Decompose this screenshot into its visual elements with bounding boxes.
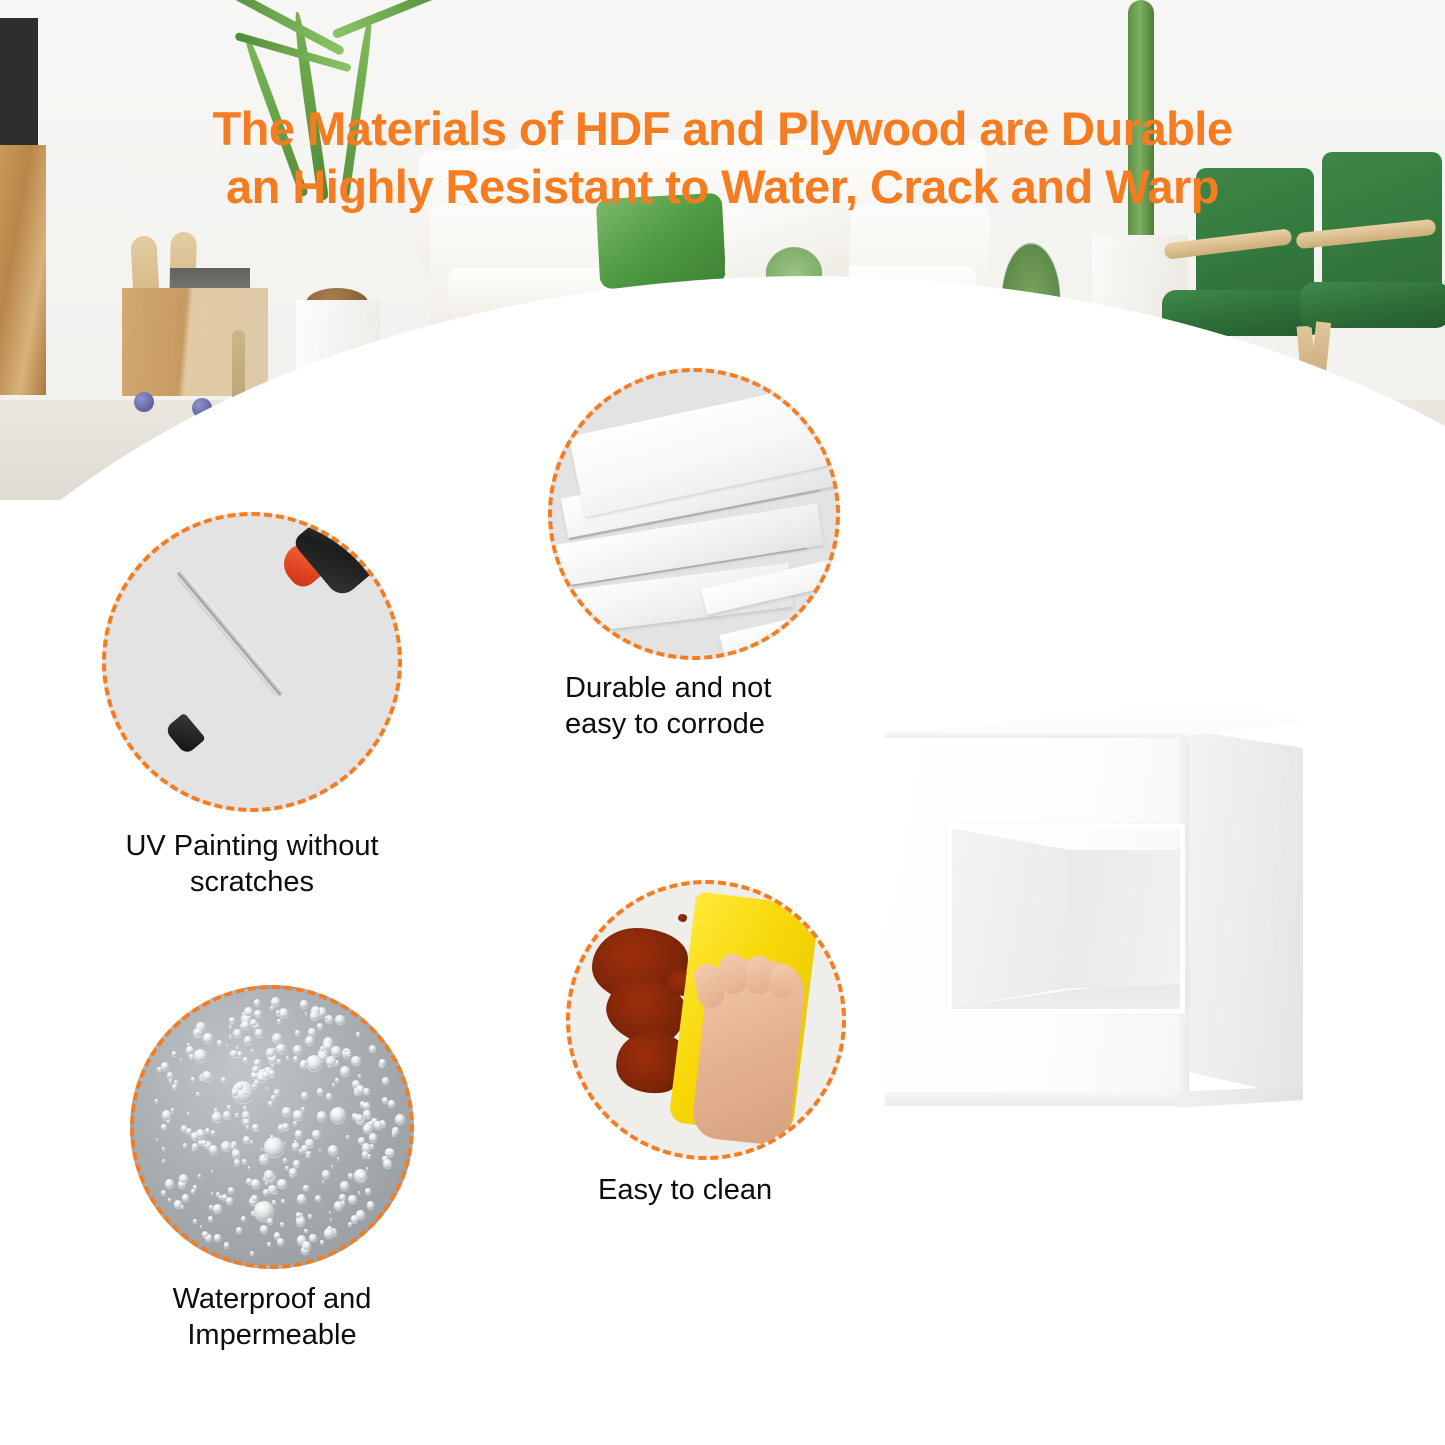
water-droplet xyxy=(214,1108,217,1111)
water-droplet xyxy=(276,1010,280,1014)
water-droplet xyxy=(217,1040,222,1045)
water-droplet xyxy=(244,1007,253,1016)
feature-uv-painting: UV Painting without scratches xyxy=(102,512,402,812)
water-droplet xyxy=(169,1079,171,1081)
water-droplet xyxy=(189,1054,194,1059)
cabinet-base-side xyxy=(1175,1086,1303,1108)
water-droplet xyxy=(172,1051,176,1055)
water-droplet xyxy=(301,1107,304,1110)
water-droplet xyxy=(211,1130,216,1135)
water-droplet xyxy=(331,1046,340,1055)
water-droplet xyxy=(277,1238,284,1245)
water-droplet xyxy=(322,1170,331,1179)
water-droplet xyxy=(303,1185,308,1190)
water-droplet xyxy=(231,1145,235,1149)
water-droplet xyxy=(230,1050,238,1058)
hand-wiping-cloth-icon xyxy=(566,880,846,1160)
water-droplet xyxy=(264,1170,274,1180)
water-droplet xyxy=(234,1159,240,1165)
caption-line-1: Waterproof and xyxy=(112,1281,432,1317)
caption-line-2: easy to corrode xyxy=(565,706,865,742)
water-droplet xyxy=(226,1044,228,1046)
water-droplet xyxy=(211,1192,213,1194)
water-droplet xyxy=(339,1194,345,1200)
water-droplet xyxy=(299,1149,303,1153)
water-droplet xyxy=(300,1000,308,1008)
water-droplet xyxy=(241,1216,246,1221)
water-droplet xyxy=(334,1201,343,1210)
water-droplet xyxy=(209,1145,218,1154)
product-cabinet xyxy=(875,700,1325,1130)
water-droplet xyxy=(233,1029,241,1037)
feature-caption-uv-painting: UV Painting without scratches xyxy=(80,828,424,900)
water-droplet xyxy=(272,1033,282,1043)
water-droplet xyxy=(332,1083,335,1086)
water-droplet xyxy=(293,1121,297,1125)
water-droplet xyxy=(272,1200,276,1204)
water-droplet xyxy=(284,1142,286,1144)
water-droplet xyxy=(347,1052,350,1055)
water-droplet xyxy=(325,1017,327,1019)
water-droplet xyxy=(271,997,280,1006)
water-droplet xyxy=(156,1138,158,1140)
water-droplet xyxy=(356,1085,364,1093)
caption-line-1: UV Painting without xyxy=(80,828,424,864)
water-droplet xyxy=(208,1216,213,1221)
water-droplet xyxy=(192,1143,198,1149)
water-droplet xyxy=(267,1218,273,1224)
water-droplet xyxy=(161,1124,167,1130)
water-droplet xyxy=(379,1059,385,1065)
water-droplet xyxy=(308,1214,312,1218)
water-droplet xyxy=(268,1101,273,1106)
water-droplet xyxy=(244,1091,248,1095)
water-droplet xyxy=(271,1095,276,1100)
water-droplet xyxy=(315,1195,322,1202)
water-droplet xyxy=(320,1240,325,1245)
water-droplet xyxy=(251,1049,253,1051)
water-droplet xyxy=(295,1130,302,1137)
water-droplet xyxy=(183,1143,187,1147)
water-droplet xyxy=(162,1159,165,1162)
caption-line-1: Durable and not xyxy=(565,670,865,706)
water-droplet xyxy=(179,1174,188,1183)
water-droplet xyxy=(191,1077,195,1081)
water-droplet xyxy=(340,1181,349,1190)
cabinet-base-front xyxy=(885,1092,1185,1106)
water-droplet xyxy=(196,1092,200,1096)
water-droplet xyxy=(191,1189,196,1194)
water-droplet xyxy=(263,1155,266,1158)
water-droplet xyxy=(186,1046,195,1055)
water-droplet xyxy=(212,1112,221,1121)
water-droplet xyxy=(324,1228,334,1238)
water-droplet xyxy=(348,1173,353,1178)
water-droplet xyxy=(162,1110,171,1119)
water-droplet xyxy=(203,1033,213,1043)
water-droplet xyxy=(351,1056,360,1065)
water-droplet xyxy=(161,1062,169,1070)
water-droplet xyxy=(193,1219,197,1223)
water-droplet xyxy=(155,1099,159,1103)
water-droplet xyxy=(317,1111,326,1120)
water-droplet xyxy=(187,1112,190,1115)
water-droplet xyxy=(283,1158,287,1162)
water-droplet xyxy=(363,1102,370,1109)
water-droplet xyxy=(254,999,260,1005)
water-droplet xyxy=(222,1194,228,1200)
water-droplet xyxy=(243,1057,248,1062)
water-droplet xyxy=(292,1142,299,1149)
water-droplet xyxy=(390,1149,394,1153)
water-droplet xyxy=(270,1006,274,1010)
water-droplet xyxy=(228,1187,234,1193)
cabinet-top-edge-highlight xyxy=(885,730,1185,738)
water-droplet xyxy=(248,1166,250,1168)
water-droplet xyxy=(261,1148,263,1150)
water-droplet xyxy=(277,1059,282,1064)
water-droplet xyxy=(297,1194,306,1203)
water-droplet xyxy=(285,1166,289,1170)
water-droplet xyxy=(201,1140,206,1145)
water-droplet xyxy=(301,1092,308,1099)
water-droplet xyxy=(293,1160,300,1167)
water-droplet xyxy=(290,1175,292,1177)
water-droplet xyxy=(295,1030,301,1036)
water-droplet xyxy=(268,1185,276,1193)
water-droplet xyxy=(255,1029,263,1037)
water-droplet xyxy=(201,1077,203,1079)
water-droplet xyxy=(229,1035,232,1038)
water-droplet xyxy=(348,1195,356,1203)
water-droplet xyxy=(308,1028,316,1036)
water-droplet xyxy=(236,1046,238,1048)
water-droplet xyxy=(326,1056,336,1066)
infographic-page: The Materials of HDF and Plywood are Dur… xyxy=(0,0,1445,1445)
water-droplet xyxy=(246,1126,249,1129)
water-droplet xyxy=(254,1010,262,1018)
water-droplet xyxy=(161,1190,166,1195)
water-droplet xyxy=(254,1080,259,1085)
water-droplets-icon xyxy=(130,985,414,1269)
water-droplet xyxy=(300,1062,306,1068)
headline-line-2: an Highly Resistant to Water, Crack and … xyxy=(0,158,1445,216)
water-droplet xyxy=(374,1121,382,1129)
water-droplet xyxy=(251,1179,260,1188)
feature-caption-waterproof: Waterproof and Impermeable xyxy=(112,1281,432,1353)
water-droplet xyxy=(282,1107,291,1116)
water-droplet xyxy=(221,1077,226,1082)
water-droplet xyxy=(363,1088,370,1095)
water-droplet xyxy=(265,1182,267,1184)
water-droplet xyxy=(305,1036,314,1045)
water-droplet xyxy=(243,1136,250,1143)
water-droplet xyxy=(180,1058,183,1061)
water-droplet xyxy=(205,1128,210,1133)
water-droplet xyxy=(331,1165,334,1168)
screwdriver-icon xyxy=(102,512,402,812)
water-droplet xyxy=(266,1048,275,1057)
water-droplet xyxy=(277,1179,287,1189)
water-droplet xyxy=(286,1056,289,1059)
water-droplet xyxy=(172,1084,177,1089)
water-droplet xyxy=(346,1135,349,1138)
water-droplet xyxy=(306,1151,311,1156)
water-droplet xyxy=(388,1100,395,1107)
water-droplet xyxy=(171,1108,175,1112)
water-droplet xyxy=(330,1218,332,1220)
water-droplet xyxy=(365,1188,371,1194)
water-droplet xyxy=(200,1225,202,1227)
water-droplet xyxy=(214,1234,220,1240)
water-droplet xyxy=(276,1044,286,1054)
water-droplet xyxy=(358,1172,366,1180)
water-droplet xyxy=(213,1204,223,1214)
page-title: The Materials of HDF and Plywood are Dur… xyxy=(0,100,1445,216)
water-droplet xyxy=(305,1139,314,1148)
water-droplet xyxy=(229,1025,232,1028)
water-droplet xyxy=(319,1149,321,1151)
feature-waterproof: Waterproof and Impermeable xyxy=(130,985,414,1269)
cabinet-side-panel xyxy=(1173,728,1303,1098)
water-droplet xyxy=(271,1064,274,1067)
water-droplet xyxy=(182,1194,189,1201)
water-droplet xyxy=(221,1141,231,1151)
water-droplet xyxy=(260,1225,268,1233)
water-droplet xyxy=(280,1222,284,1226)
water-droplet xyxy=(250,1019,257,1026)
water-droplet xyxy=(237,1051,242,1056)
water-droplet xyxy=(236,1227,242,1233)
water-droplet xyxy=(227,1105,231,1109)
water-droplet xyxy=(282,1123,289,1130)
water-droplet xyxy=(312,1130,320,1138)
water-droplet xyxy=(243,1118,250,1125)
caption-line-2: scratches xyxy=(80,864,424,900)
water-droplet xyxy=(369,1133,378,1142)
caption-line-1: Easy to clean xyxy=(598,1172,858,1208)
water-droplet xyxy=(250,1140,253,1143)
water-droplet xyxy=(267,1242,271,1246)
water-droplet xyxy=(293,1045,302,1054)
water-droplet xyxy=(266,1087,268,1089)
water-droplet xyxy=(162,1147,165,1150)
water-droplet xyxy=(191,1132,200,1141)
caption-line-2: Impermeable xyxy=(112,1317,432,1353)
water-droplet xyxy=(277,1019,281,1023)
water-droplet xyxy=(229,1017,235,1023)
water-droplet xyxy=(337,1157,340,1160)
water-droplet xyxy=(330,1107,346,1123)
water-droplet xyxy=(293,1110,302,1119)
water-droplet xyxy=(244,1036,252,1044)
water-droplet xyxy=(250,1251,254,1255)
water-droplet xyxy=(335,1015,344,1024)
water-droplet xyxy=(235,1113,238,1116)
water-droplet xyxy=(358,1191,361,1194)
water-droplet xyxy=(165,1179,174,1188)
water-droplet xyxy=(232,1089,238,1095)
water-droplet xyxy=(293,1056,298,1061)
water-droplet xyxy=(194,1049,207,1062)
water-droplet xyxy=(363,1110,371,1118)
water-droplet xyxy=(363,1124,372,1133)
feature-durable-corrode: Durable and not easy to corrode xyxy=(548,368,840,660)
water-droplet xyxy=(242,1159,247,1164)
water-droplet xyxy=(358,1074,361,1077)
water-droplet xyxy=(223,1111,232,1120)
water-droplet xyxy=(309,1234,316,1241)
water-droplet xyxy=(252,1124,259,1131)
water-droplet xyxy=(202,1231,208,1237)
water-droplet xyxy=(237,1084,243,1090)
water-droplet xyxy=(281,1199,285,1203)
feature-caption-easy-to-clean: Easy to clean xyxy=(598,1172,858,1208)
water-droplet xyxy=(174,1080,178,1084)
water-droplet xyxy=(279,1008,289,1018)
water-droplet xyxy=(382,1077,389,1084)
water-droplet xyxy=(302,1241,311,1250)
water-droplet xyxy=(243,1106,247,1110)
water-droplet xyxy=(232,1149,240,1157)
water-droplet xyxy=(304,1229,308,1233)
water-droplet xyxy=(269,1070,275,1076)
water-droplet xyxy=(344,1049,347,1052)
water-droplet xyxy=(369,1045,376,1052)
water-droplet xyxy=(167,1072,173,1078)
water-droplet xyxy=(224,1242,230,1248)
water-droplet xyxy=(168,1198,171,1201)
water-droplet xyxy=(167,1120,169,1122)
water-droplet xyxy=(241,1021,250,1030)
niche-rim xyxy=(947,824,1185,1014)
water-droplet xyxy=(198,1174,200,1176)
water-droplet xyxy=(251,1195,257,1201)
water-droplet xyxy=(310,1011,319,1020)
water-droplet xyxy=(395,1114,405,1124)
water-droplet xyxy=(383,1159,392,1168)
water-droplet xyxy=(326,1093,332,1099)
feature-caption-durable-corrode: Durable and not easy to corrode xyxy=(565,670,865,742)
water-droplet xyxy=(193,1185,197,1189)
water-droplet xyxy=(328,1145,338,1155)
water-droplet xyxy=(305,1012,307,1014)
water-droplet xyxy=(356,1210,364,1218)
water-droplet xyxy=(366,1167,368,1169)
water-droplet xyxy=(329,1211,331,1213)
water-droplet xyxy=(211,1170,213,1172)
water-droplet xyxy=(335,1078,339,1082)
water-droplet xyxy=(356,1032,360,1036)
stacked-panels-icon xyxy=(548,368,840,660)
feature-easy-to-clean: Easy to clean xyxy=(566,880,846,1160)
water-droplet xyxy=(340,1066,350,1076)
water-droplet xyxy=(367,1201,375,1209)
water-droplet xyxy=(252,1066,259,1073)
water-droplet xyxy=(322,1180,324,1182)
headline-line-1: The Materials of HDF and Plywood are Dur… xyxy=(0,100,1445,158)
water-droplet xyxy=(317,1088,323,1094)
water-droplet xyxy=(317,1023,323,1029)
